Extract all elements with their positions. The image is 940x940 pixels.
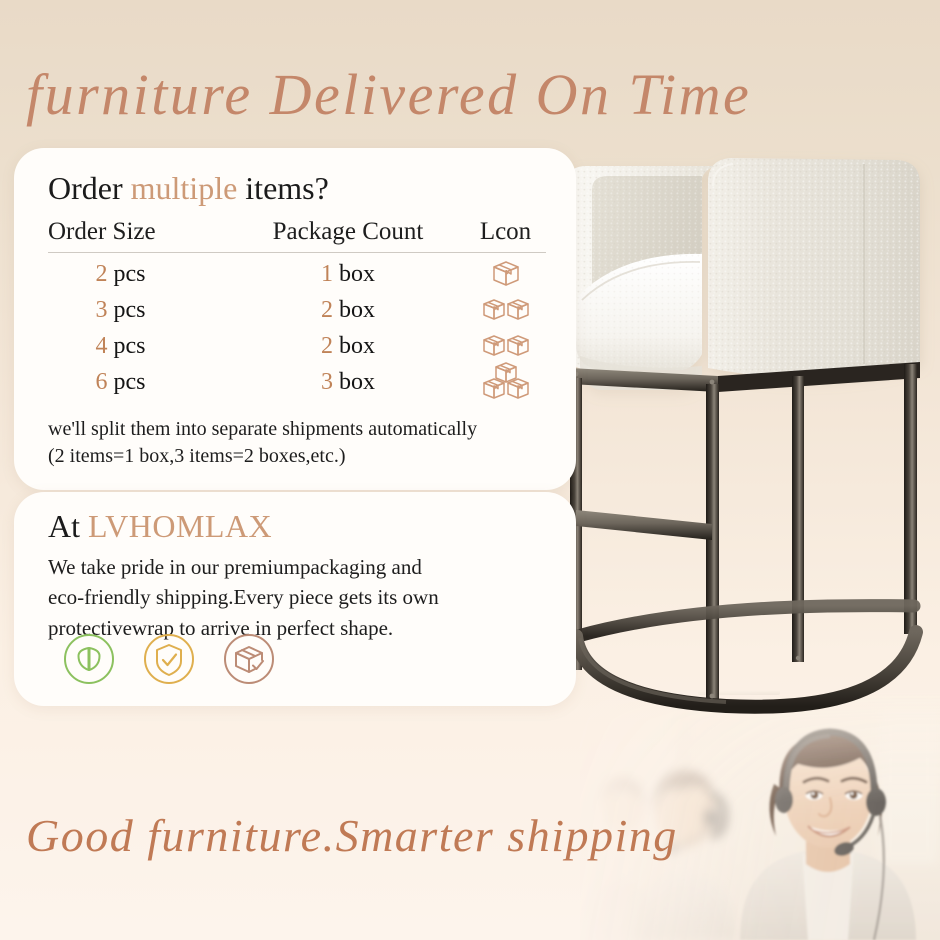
brand-card-title: At LVHOMLAX xyxy=(48,508,272,545)
package-count-unit: box xyxy=(333,333,375,359)
two-box-icon xyxy=(481,330,531,362)
cell-package-count: 3 box xyxy=(233,369,463,396)
cell-box-icon xyxy=(463,330,548,362)
three-box-icon xyxy=(481,361,531,403)
package-count-table: Order Size Package Count Lcon 2 pcs 1 bo… xyxy=(48,218,548,400)
package-count-value: 3 xyxy=(321,369,333,395)
table-row: 3 pcs 2 box xyxy=(48,292,548,328)
cell-box-icon xyxy=(463,258,548,290)
cell-package-count: 2 box xyxy=(233,333,463,360)
table-header-row: Order Size Package Count Lcon xyxy=(48,218,548,252)
cell-order-size: 4 pcs xyxy=(48,333,233,360)
page-title: furniture Delivered On Time xyxy=(26,66,926,124)
order-card-title-accent: multiple xyxy=(131,170,238,206)
order-size-unit: pcs xyxy=(108,297,146,323)
trust-badge-row xyxy=(62,632,276,686)
order-size-value: 2 xyxy=(96,261,108,287)
order-card-title-post: items? xyxy=(237,170,329,206)
boucle-counter-stool-photo xyxy=(556,150,940,720)
shield-check-badge-icon xyxy=(142,632,196,686)
brand-title-pre: At xyxy=(48,508,88,544)
package-count-value: 2 xyxy=(321,297,333,323)
package-count-value: 2 xyxy=(321,333,333,359)
table-row: 4 pcs 2 box xyxy=(48,328,548,364)
order-card-title-pre: Order xyxy=(48,170,131,206)
table-row: 2 pcs 1 box xyxy=(48,256,548,292)
order-split-card: Order multiple items? Order Size Package… xyxy=(14,148,576,490)
brand-name: LVHOMLAX xyxy=(88,508,272,544)
cell-order-size: 3 pcs xyxy=(48,297,233,324)
order-size-value: 6 xyxy=(96,369,108,395)
order-size-unit: pcs xyxy=(108,261,146,287)
cell-box-icon xyxy=(463,294,548,326)
order-size-value: 3 xyxy=(96,297,108,323)
package-count-unit: box xyxy=(333,369,375,395)
order-size-unit: pcs xyxy=(108,333,146,359)
column-header-order-size: Order Size xyxy=(48,218,233,246)
order-card-title: Order multiple items? xyxy=(48,170,329,207)
cell-package-count: 1 box xyxy=(233,261,463,288)
brand-promise-card: At LVHOMLAX We take pride in our premium… xyxy=(14,492,576,706)
order-size-value: 4 xyxy=(96,333,108,359)
order-size-unit: pcs xyxy=(108,369,146,395)
package-count-unit: box xyxy=(333,297,375,323)
two-box-icon xyxy=(481,294,531,326)
column-header-package-count: Package Count xyxy=(233,218,463,246)
split-shipment-note: we'll split them into separate shipments… xyxy=(48,416,477,470)
cell-package-count: 2 box xyxy=(233,297,463,324)
cell-box-icon xyxy=(463,361,548,403)
cell-order-size: 6 pcs xyxy=(48,369,233,396)
brand-description: We take pride in our premiumpackaging an… xyxy=(48,552,548,643)
poster-canvas: furniture Delivered On Time xyxy=(0,0,940,940)
eco-leaf-badge-icon xyxy=(62,632,116,686)
table-header-divider xyxy=(48,252,546,253)
table-row: 6 pcs 3 box xyxy=(48,364,548,400)
column-header-icon: Lcon xyxy=(463,218,548,246)
package-count-unit: box xyxy=(333,261,375,287)
cell-order-size: 2 pcs xyxy=(48,261,233,288)
package-count-value: 1 xyxy=(321,261,333,287)
box-check-badge-icon xyxy=(222,632,276,686)
one-box-icon xyxy=(486,258,526,290)
footer-tagline: Good furniture.Smarter shipping xyxy=(26,808,678,863)
